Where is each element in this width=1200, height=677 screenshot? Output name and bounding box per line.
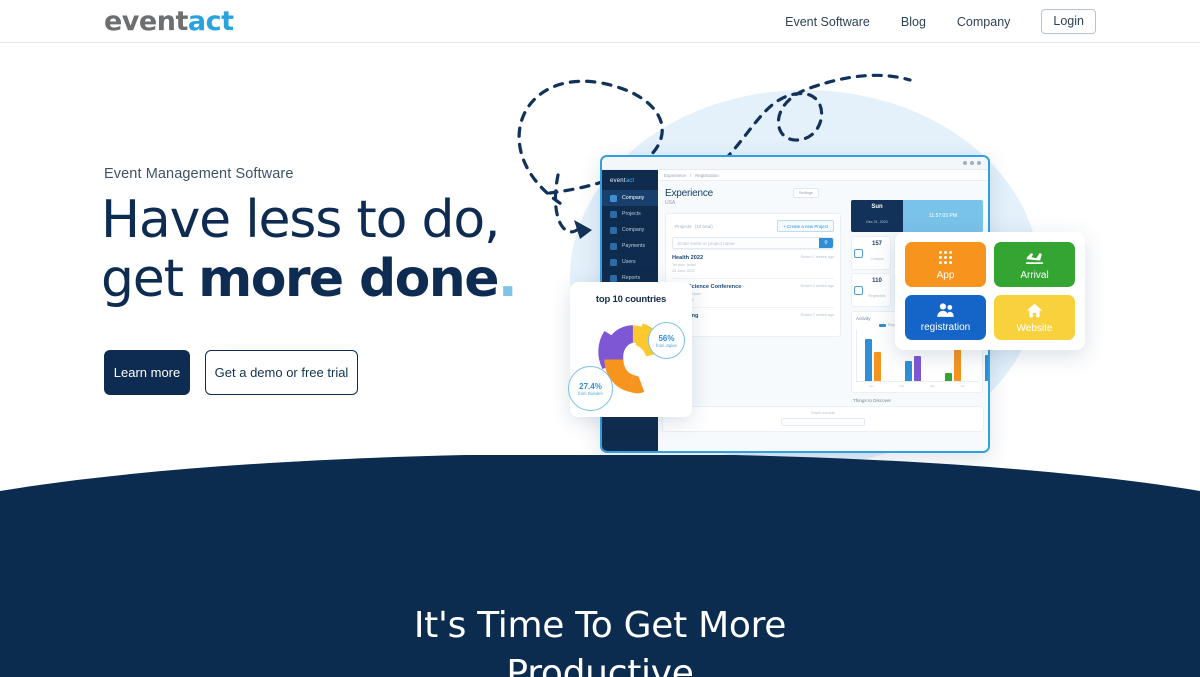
search-placeholder: Enter event or project name [673,241,735,246]
x-tick-label: Mar [930,384,935,388]
calendar-icon [610,227,617,234]
card-icon [610,243,617,250]
search-icon[interactable]: ⚲ [819,238,833,248]
bar [945,373,952,381]
sidebar-item-label: Payments [622,243,645,249]
tile-website[interactable]: Website [994,295,1075,340]
sidebar-item-label: Company [622,195,644,201]
x-tick-label: Feb [899,384,904,388]
project-status: Ended 2 weeks ago [801,313,834,326]
hero-headline: Have less to do, get more done. [101,191,516,309]
hero-illustration: eventact Company Projects Company Paymen… [510,60,1110,460]
window-dot-icon [963,161,967,165]
projects-header: Projects(10 total) + Create a new Projec… [672,220,834,232]
tile-arrival[interactable]: Arrival [994,242,1075,287]
hero-headline-strong: more done [198,249,498,309]
bar [905,361,912,381]
feature-tiles-card: App Arrival registration [895,232,1085,350]
people-icon [936,302,955,318]
top-countries-title: top 10 countries [570,282,692,305]
hero-headline-plain: get [101,249,198,309]
projects-title: Projects(10 total) [672,223,713,230]
stat-value: 157 [866,241,888,247]
nav-link-event-software[interactable]: Event Software [785,15,870,29]
logo-text-first: event [104,6,188,37]
badge-sweden-value: 27.4% [579,382,602,391]
clock-display: 11:57:03 PM [903,200,983,232]
sidebar-item-company-2[interactable]: Company [602,222,658,238]
sidebar-item-payments[interactable]: Payments [602,238,658,254]
settings-filter-pill[interactable]: Settings [793,188,819,198]
badge-japan-label: from Japan [656,343,677,348]
project-meta-date: 20 June 2022 [672,269,703,274]
stat-card-contacts: 157Contacts [851,236,891,270]
plane-landing-icon [1025,249,1044,266]
create-project-button[interactable]: + Create a new Project [777,220,834,232]
home-icon [1026,302,1043,319]
landing-page: eventact Event Software Blog Company Log… [0,0,1200,677]
promo-heading-line-1: It's Time To Get More [0,602,1200,650]
sidebar-item-label: Company [622,227,644,233]
main-navigation: Event Software Blog Company Login [785,0,1096,43]
project-status: Ended 2 weeks ago [801,255,834,274]
promo-heading: It's Time To Get More Productive [0,602,1200,677]
learn-more-button[interactable]: Learn more [104,350,190,395]
site-header: eventact Event Software Blog Company Log… [0,0,1200,43]
project-list-item[interactable]: Health 2022 Tel Aviv, Israel 20 June 202… [672,249,834,278]
projects-count: (10 total) [695,224,713,229]
building-icon [610,195,617,202]
top-countries-card: top 10 countries 56% from Japan 27.4% fr… [570,282,692,417]
project-list-item[interactable]: Open Science Conference Barcelona, Spain… [672,278,834,307]
bar [874,352,881,381]
dashboard-logo-first: event [610,178,626,184]
chart-icon [610,275,617,282]
user-icon [610,259,617,266]
badge-japan-value: 56% [658,334,674,343]
stat-card-registrants: 110Registrants [851,273,891,307]
window-dot-icon [977,161,981,165]
registrants-icon [854,286,863,295]
sidebar-item-users[interactable]: Users [602,254,658,270]
legend-swatch [879,324,886,327]
breadcrumb-item-2[interactable]: Registration [695,173,718,178]
tile-label: Website [1017,323,1053,334]
breadcrumb-item-1[interactable]: Experience [664,173,686,178]
folder-icon [610,211,617,218]
project-search-input[interactable]: Enter event or project name ⚲ [672,237,834,249]
badge-sweden-label: from Sweden [578,391,603,396]
dashboard-logo: eventact [602,174,658,190]
hero-headline-line-1: Have less to do, [101,191,516,250]
grid-icon [937,249,954,266]
bar-group [905,356,921,381]
sidebar-item-company[interactable]: Company [602,190,658,206]
stat-value: 110 [866,278,888,284]
page-subtitle: USA [665,200,841,206]
get-demo-button[interactable]: Get a demo or free trial [205,350,358,395]
tile-registration[interactable]: registration [905,295,986,340]
bar [914,356,921,381]
window-controls [963,161,981,165]
promo-heading-line-2: Productive [0,650,1200,677]
hero-headline-line-2: get more done. [101,250,516,309]
date-full: Dec 31, 2023 [866,220,887,224]
sidebar-item-label: Projects [622,211,641,217]
stat-label: Contacts [870,257,883,261]
date-day: Sun [851,204,903,210]
discover-search-input[interactable] [781,418,865,426]
sidebar-item-projects[interactable]: Projects [602,206,658,222]
window-titlebar [602,157,988,170]
tile-label: Arrival [1020,270,1048,281]
contacts-icon [854,249,863,258]
stat-label: Registrants [868,294,885,298]
project-meta-location: Tel Aviv, Israel [672,263,703,268]
sidebar-item-label: Users [622,259,636,265]
date-block: Sun Dec 31, 2023 [851,200,903,232]
hero-eyebrow: Event Management Software [104,166,294,182]
hero-button-row: Learn more Get a demo or free trial [104,350,358,395]
bar [865,339,872,381]
x-tick-label: Apr [961,384,966,388]
discover-card: Search a module [662,406,984,432]
promo-section: It's Time To Get More Productive [0,455,1200,677]
eventact-logo[interactable]: eventact [104,8,234,35]
badge-japan: 56% from Japan [648,322,685,359]
project-name: Health 2022 [672,255,703,261]
tile-label: registration [921,322,970,333]
badge-sweden: 27.4% from Sweden [568,366,613,411]
nav-link-blog[interactable]: Blog [901,15,926,29]
logo-text-second: act [188,6,234,37]
project-list-item[interactable]: Marketing London, UK Ended 2 weeks ago [672,307,834,330]
tile-label: App [937,270,955,281]
bar [985,355,990,381]
chart-x-labels: Jan Feb Mar Apr [856,384,978,388]
breadcrumb-separator: / [690,173,691,178]
breadcrumb: Experience / Registration [658,170,988,181]
x-tick-label: Jan [869,384,874,388]
bar-group [865,339,881,381]
nav-link-company[interactable]: Company [957,15,1011,29]
projects-label: Projects [675,224,692,229]
date-time-bar: Sun Dec 31, 2023 11:57:03 PM [851,200,983,232]
discover-field-label: Search a module [811,411,835,415]
login-button[interactable]: Login [1041,9,1096,35]
dashboard-logo-second: act [626,178,635,184]
sidebar-item-label: Reports [622,275,640,281]
window-dot-icon [970,161,974,165]
tile-app[interactable]: App [905,242,986,287]
project-status: Ended 2 weeks ago [801,284,834,303]
bar-group [985,355,990,381]
discover-title: Things to Discover [853,398,983,403]
